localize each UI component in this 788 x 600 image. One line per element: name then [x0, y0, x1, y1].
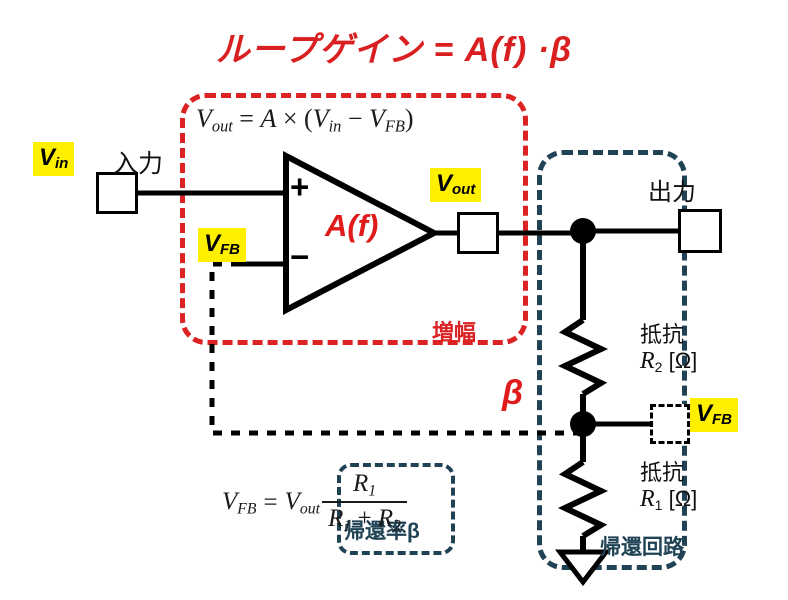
- formula-top-eq: =: [239, 104, 254, 133]
- formula-bot-fraction: R1 R1 + R2: [322, 470, 407, 536]
- label-vfb-right-main: V: [696, 400, 712, 427]
- label-vfb-right-sub: FB: [712, 411, 732, 428]
- output-terminal[interactable]: [457, 212, 499, 254]
- formula-bot-rhs-group: Vout: [285, 488, 320, 518]
- label-vfb-right: VFB: [690, 398, 738, 432]
- formula-top-times: ×: [283, 104, 298, 133]
- formula-bot-den-a: R: [328, 505, 343, 532]
- resistor-r1-subscript: 1: [655, 497, 663, 513]
- resistor-r2-subscript: 2: [655, 359, 663, 375]
- label-vout-sub: out: [452, 181, 475, 198]
- resistor-r2-jp: 抵抗: [640, 323, 697, 348]
- label-vfb-left: VFB: [198, 228, 246, 262]
- formula-top-v2-sub: FB: [385, 117, 405, 136]
- resistor-r2-symbol: [565, 320, 601, 394]
- formula-bot-eq: =: [264, 489, 278, 517]
- feedback-path-dotted: [212, 264, 583, 433]
- diagram-canvas: ループゲイン = A(f) ·β: [0, 0, 788, 600]
- formula-top-open: (: [304, 104, 313, 133]
- output-text-label: 出力: [648, 172, 696, 207]
- formula-bot-den-plus: +: [357, 505, 371, 532]
- resistor-r1-label: 抵抗 R1 [Ω]: [640, 461, 697, 513]
- formula-top-close: ): [405, 104, 414, 133]
- formula-top-lhs-sub: out: [212, 117, 233, 136]
- formula-bot-denominator: R1 + R2: [322, 501, 407, 535]
- resistor-r2-symbol-text: R: [640, 348, 655, 374]
- noninverting-input-sign: +: [290, 168, 309, 206]
- input-text-label: 入力: [113, 144, 163, 180]
- resistor-r1-symbol-text: R: [640, 486, 655, 512]
- formula-top-a: A: [260, 104, 276, 133]
- formula-top-lhs: V: [196, 104, 212, 133]
- label-vin-sub: in: [55, 155, 68, 172]
- resistor-r1-unit: [Ω]: [669, 486, 698, 511]
- inverting-input-sign: −: [290, 238, 309, 276]
- formula-top-minus: −: [348, 104, 363, 133]
- formula-bot-lhs-group: VFB: [222, 488, 257, 518]
- label-vin: Vin: [33, 142, 74, 176]
- beta-symbol-label: β: [502, 374, 523, 413]
- formula-bot-lhs-sub: FB: [237, 500, 256, 517]
- feedback-voltage-terminal[interactable]: [650, 404, 690, 444]
- label-vfb-left-sub: FB: [220, 241, 240, 258]
- resistor-r2-unit: [Ω]: [669, 348, 698, 373]
- formula-bot-num-sub: 1: [368, 482, 376, 499]
- formula-bot-den-b-sub: 2: [393, 518, 401, 535]
- feedback-circuit-caption: 帰還回路: [600, 531, 684, 561]
- gain-symbol-label: A(f): [325, 208, 378, 244]
- resistor-r1-value: R1 [Ω]: [640, 486, 697, 514]
- amplifier-group-caption: 増幅: [432, 315, 476, 347]
- formula-top-v1-sub: in: [329, 117, 342, 136]
- formula-bot-num: R: [353, 470, 368, 497]
- formula-bot-rhs: V: [285, 488, 300, 515]
- resistor-r1-jp: 抵抗: [640, 461, 697, 486]
- formula-bot-den-b: R: [378, 505, 393, 532]
- resistor-r2-value: R2 [Ω]: [640, 348, 697, 376]
- label-vout-main: V: [436, 170, 452, 197]
- resistor-r2-label: 抵抗 R2 [Ω]: [640, 323, 697, 375]
- formula-top-v1: V: [313, 104, 329, 133]
- feedback-ratio-formula: VFB = Vout R1 R1 + R2: [222, 470, 407, 536]
- label-vin-main: V: [39, 144, 55, 171]
- label-vfb-left-main: V: [204, 230, 220, 257]
- formula-bot-numerator: R1: [347, 470, 382, 501]
- label-vout: Vout: [430, 168, 481, 202]
- formula-bot-rhs-sub: out: [300, 500, 320, 517]
- formula-top-v2: V: [369, 104, 385, 133]
- resistor-r1-symbol: [565, 462, 601, 536]
- formula-bot-den-a-sub: 1: [343, 518, 351, 535]
- load-output-terminal[interactable]: [678, 209, 722, 253]
- formula-bot-lhs: V: [222, 488, 237, 515]
- amplifier-formula: Vout = A × (Vin − VFB): [196, 104, 414, 137]
